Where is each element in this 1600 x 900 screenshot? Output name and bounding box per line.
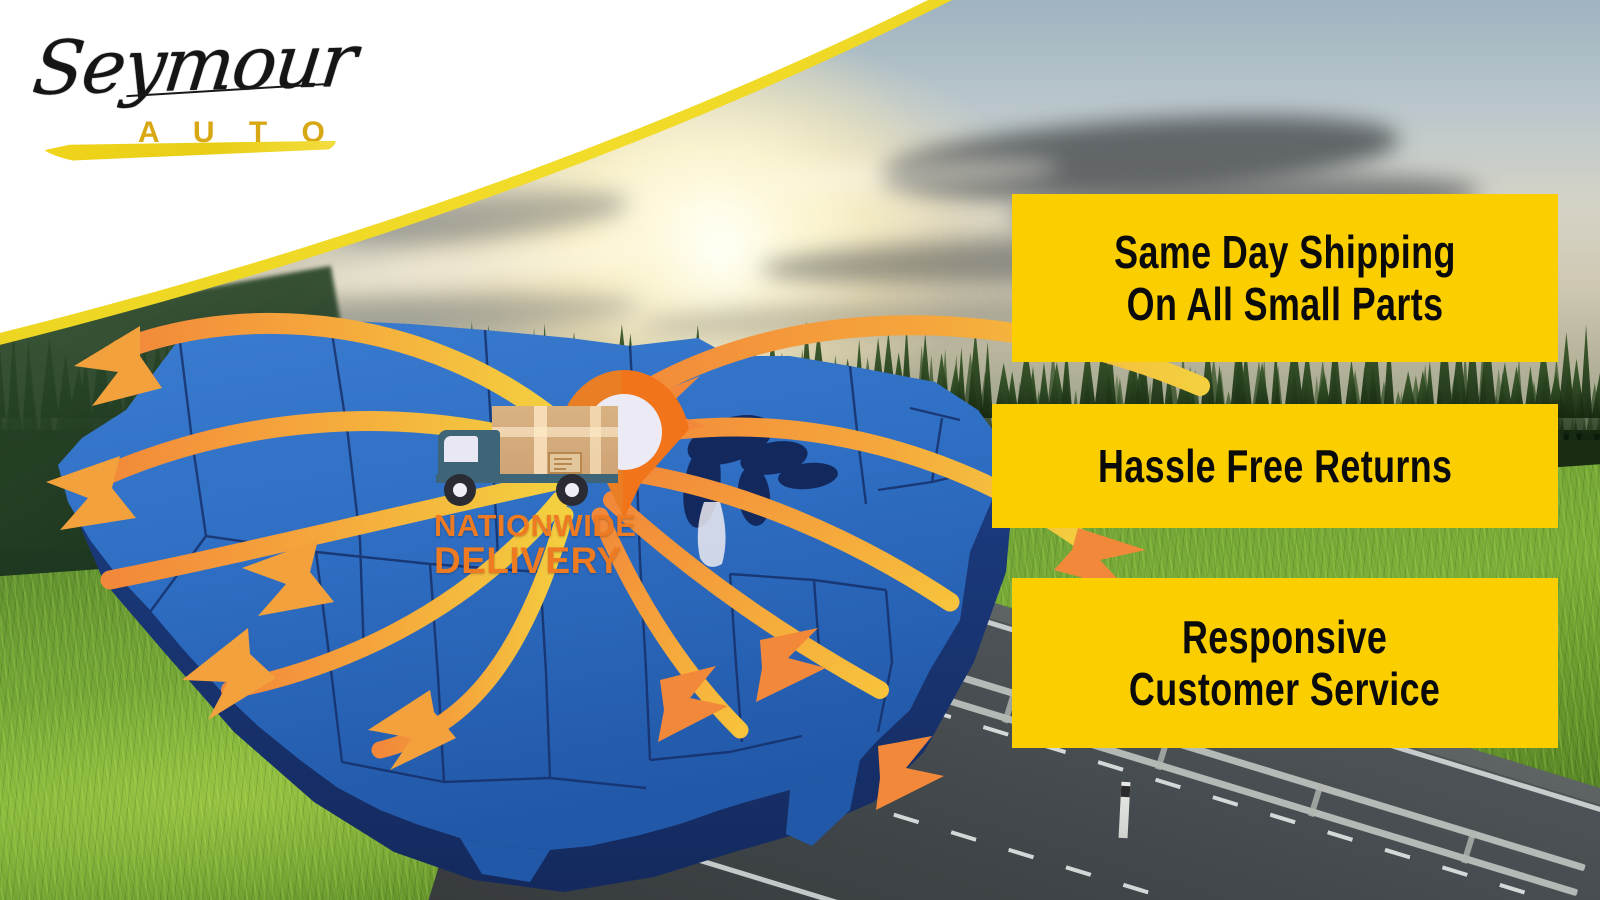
michigan-highlight xyxy=(698,502,726,567)
claim-2-line-1: Hassle Free Returns xyxy=(1098,440,1452,492)
promo-banner: Seymour A U T O xyxy=(0,0,1600,900)
badge-line-1: NATIONWIDE xyxy=(434,508,694,544)
claim-3-line-1: Responsive xyxy=(1182,611,1387,663)
claim-1-line-1: Same Day Shipping xyxy=(1114,226,1456,278)
nationwide-delivery-badge: NATIONWIDE DELIVERY xyxy=(430,360,690,590)
badge-line-2: DELIVERY xyxy=(434,540,694,582)
claim-3-line-2: Customer Service xyxy=(1129,663,1440,715)
logo-swoosh xyxy=(40,141,336,172)
claim-box-same-day-shipping[interactable]: Same Day Shipping On All Small Parts xyxy=(1012,194,1558,362)
logo-script-text: Seymour xyxy=(29,18,360,112)
claim-box-responsive-customer-service[interactable]: Responsive Customer Service xyxy=(1012,578,1558,748)
claim-1-line-2: On All Small Parts xyxy=(1127,278,1444,330)
claim-box-hassle-free-returns[interactable]: Hassle Free Returns xyxy=(992,404,1558,528)
delivery-truck-icon xyxy=(430,400,630,510)
brand-logo[interactable]: Seymour A U T O xyxy=(28,18,358,168)
